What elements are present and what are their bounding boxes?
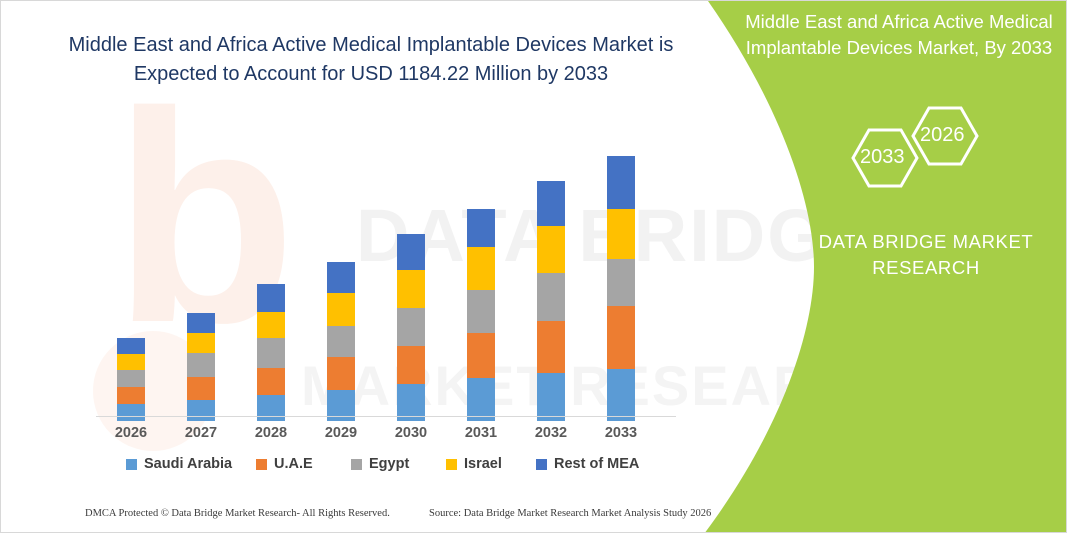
legend-label: Israel	[464, 456, 502, 472]
bar-segment	[117, 354, 145, 370]
legend-swatch-icon	[536, 459, 547, 470]
legend-swatch-icon	[126, 459, 137, 470]
bar-segment	[537, 181, 565, 226]
bar-segment	[397, 270, 425, 308]
bar-segment	[397, 234, 425, 270]
bar-segment	[607, 306, 635, 369]
footer-source: Source: Data Bridge Market Research Mark…	[429, 508, 711, 519]
legend-label: Saudi Arabia	[144, 456, 232, 472]
legend-swatch-icon	[446, 459, 457, 470]
legend-label: Egypt	[369, 456, 409, 472]
x-axis-tick-label: 2030	[376, 425, 446, 441]
bar-column	[397, 234, 425, 421]
bar-segment	[467, 378, 495, 421]
bar-segment	[187, 377, 215, 400]
legend-swatch-icon	[351, 459, 362, 470]
infographic-canvas: b DATA BRIDGE MARKET RESEARCH Middle Eas…	[0, 0, 1067, 533]
bar-segment	[327, 357, 355, 390]
x-axis-tick-label: 2033	[586, 425, 656, 441]
bar-segment	[187, 353, 215, 377]
bar-segment	[467, 333, 495, 378]
legend-item[interactable]: Rest of MEA	[536, 456, 639, 472]
hexagon-badges: 2033 2026	[821, 96, 1001, 216]
x-axis-line	[96, 416, 676, 417]
bar-column	[187, 313, 215, 421]
bar-segment	[257, 338, 285, 368]
bar-segment	[327, 293, 355, 326]
bar-segment	[117, 404, 145, 421]
bar-segment	[467, 247, 495, 290]
chart-legend: Saudi ArabiaU.A.EEgyptIsraelRest of MEA	[96, 456, 676, 478]
bar-column	[257, 284, 285, 421]
hexagon-shapes	[821, 96, 1001, 216]
legend-item[interactable]: Saudi Arabia	[126, 456, 232, 472]
bar-segment	[117, 338, 145, 354]
x-axis-tick-label: 2028	[236, 425, 306, 441]
footer-copyright: DMCA Protected © Data Bridge Market Rese…	[85, 508, 390, 519]
bar-segment	[607, 259, 635, 306]
bar-segment	[467, 290, 495, 333]
bar-segment	[257, 395, 285, 421]
bar-segment	[537, 373, 565, 421]
x-axis-labels: 20262027202820292030203120322033	[96, 425, 676, 447]
legend-label: Rest of MEA	[554, 456, 639, 472]
bar-segment	[187, 313, 215, 333]
bar-segment	[117, 387, 145, 404]
bar-segment	[327, 262, 355, 293]
x-axis-tick-label: 2026	[96, 425, 166, 441]
bar-segment	[467, 209, 495, 247]
legend-item[interactable]: U.A.E	[256, 456, 313, 472]
bar-segment	[257, 284, 285, 312]
bar-segment	[327, 326, 355, 357]
legend-label: U.A.E	[274, 456, 313, 472]
bar-segment	[607, 369, 635, 421]
bar-segment	[187, 333, 215, 353]
bar-segment	[257, 368, 285, 395]
brand-panel-title: Middle East and Africa Active Medical Im…	[739, 9, 1059, 61]
bar-segment	[607, 209, 635, 259]
chart-title: Middle East and Africa Active Medical Im…	[61, 31, 681, 89]
x-axis-tick-label: 2031	[446, 425, 516, 441]
x-axis-tick-label: 2032	[516, 425, 586, 441]
bar-column	[327, 262, 355, 421]
bar-segment	[117, 370, 145, 387]
bar-column	[537, 181, 565, 421]
legend-swatch-icon	[256, 459, 267, 470]
hexagon-back-label: 2033	[860, 146, 905, 169]
brand-name-line1: DATA BRIDGE MARKET	[801, 229, 1051, 255]
bar-segment	[397, 308, 425, 346]
bar-segment	[257, 312, 285, 338]
footer: DMCA Protected © Data Bridge Market Rese…	[1, 508, 721, 528]
bar-segment	[607, 156, 635, 209]
legend-item[interactable]: Egypt	[351, 456, 409, 472]
hexagon-front-label: 2026	[920, 124, 965, 147]
x-axis-tick-label: 2027	[166, 425, 236, 441]
brand-name-line2: RESEARCH	[801, 255, 1051, 281]
x-axis-tick-label: 2029	[306, 425, 376, 441]
bar-column	[467, 209, 495, 421]
brand-name: DATA BRIDGE MARKET RESEARCH	[801, 229, 1051, 281]
bar-column	[607, 156, 635, 421]
stacked-bar-chart	[96, 131, 676, 421]
bar-segment	[397, 346, 425, 384]
legend-item[interactable]: Israel	[446, 456, 502, 472]
bar-column	[117, 338, 145, 421]
bar-segment	[537, 273, 565, 321]
bar-segment	[187, 400, 215, 421]
bar-segment	[537, 321, 565, 373]
bar-segment	[537, 226, 565, 273]
